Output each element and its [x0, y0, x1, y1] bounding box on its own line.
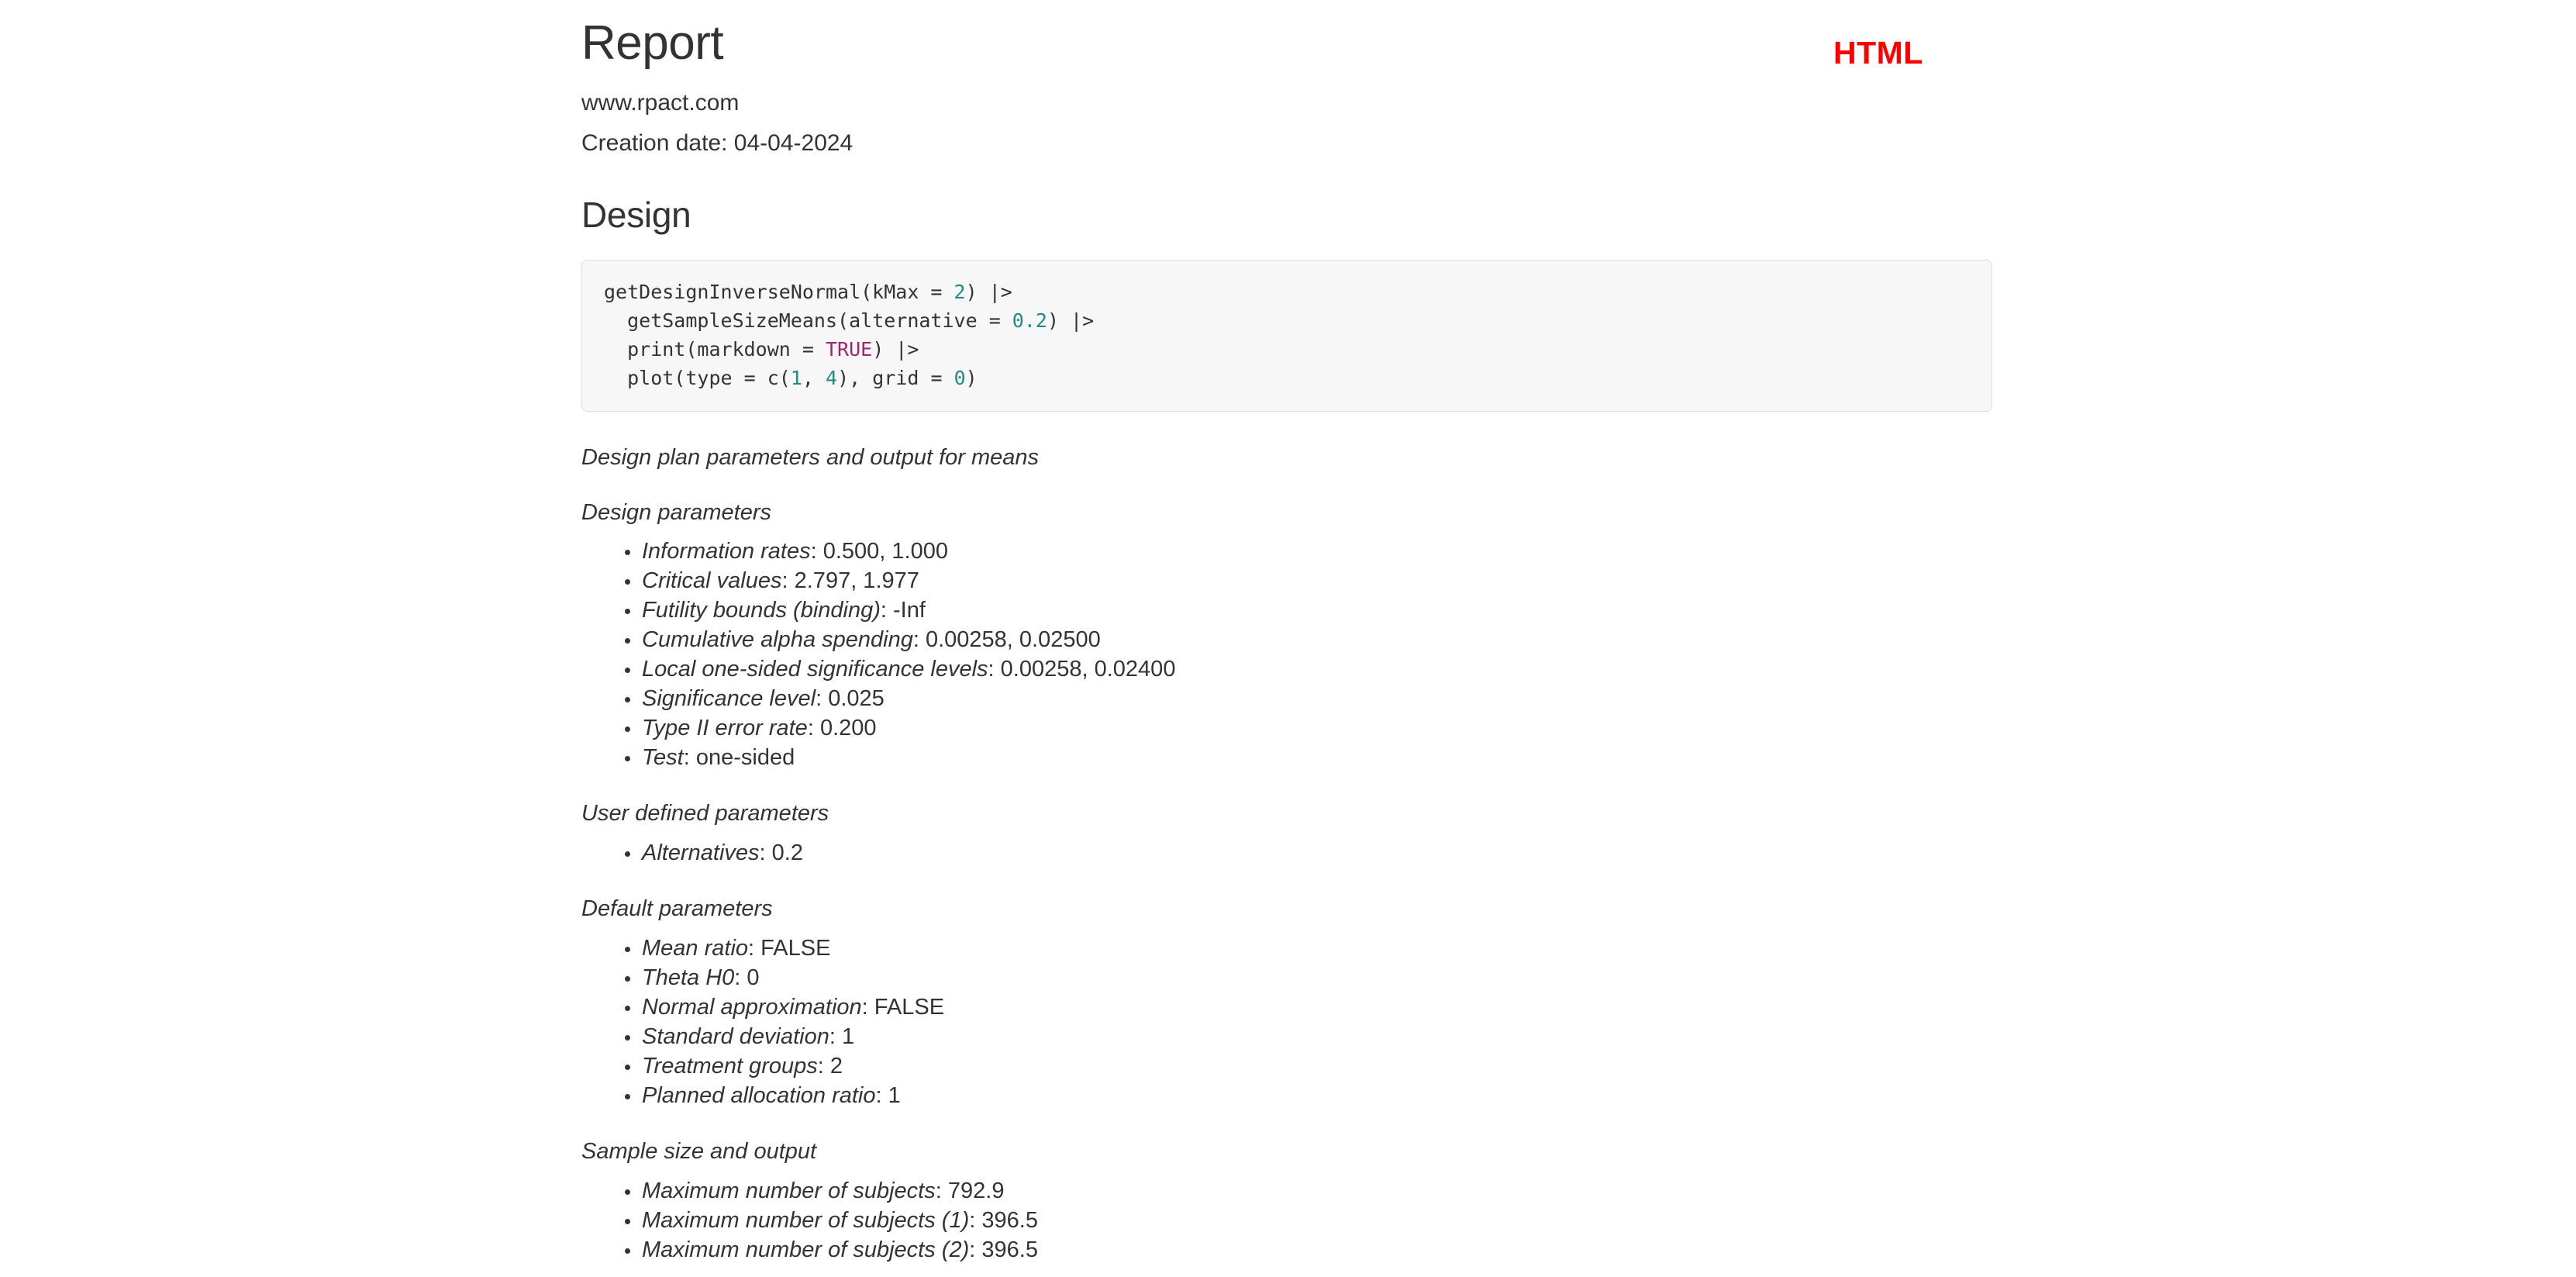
- parameter-label: Information rates: [642, 539, 811, 564]
- code-token-plain: ), grid =: [837, 367, 954, 389]
- parameter-value: 0.00258, 0.02400: [1001, 657, 1176, 682]
- parameter-label: Critical values: [642, 568, 782, 593]
- parameter-label: Alternatives: [642, 840, 760, 865]
- parameter-item: Futility bounds (binding): -Inf: [581, 595, 1995, 625]
- parameter-separator: :: [862, 995, 874, 1020]
- code-token-number: 2: [954, 281, 966, 303]
- parameter-label: Cumulative alpha spending: [642, 627, 913, 652]
- code-token-boolean: TRUE: [826, 338, 872, 361]
- parameter-value: 0.500, 1.000: [823, 539, 948, 564]
- parameter-label: Maximum number of subjects (1): [642, 1208, 969, 1233]
- parameter-separator: :: [988, 657, 1001, 682]
- page-title: Report: [581, 0, 1995, 70]
- parameter-item: Critical values: 2.797, 1.977: [581, 566, 1995, 595]
- creation-date-line: Creation date: 04-04-2024: [581, 117, 1995, 157]
- parameter-value: 1: [842, 1024, 854, 1049]
- code-token-plain: getSampleSizeMeans(alternative =: [604, 309, 1012, 332]
- code-token-plain: getDesignInverseNormal(kMax =: [604, 281, 954, 303]
- parameter-separator: :: [913, 627, 926, 652]
- parameter-separator: :: [969, 1237, 981, 1262]
- parameter-item: Normal approximation: FALSE: [581, 992, 1995, 1022]
- parameter-separator: :: [782, 568, 795, 593]
- parameter-label: Normal approximation: [642, 995, 862, 1020]
- report-page: HTML Report www.rpact.com Creation date:…: [0, 0, 2576, 1277]
- parameter-value: 396.5: [981, 1208, 1038, 1233]
- parameter-list: Information rates: 0.500, 1.000Critical …: [581, 526, 1995, 772]
- code-token-number: 0.2: [1012, 309, 1047, 332]
- parameter-separator: :: [881, 598, 893, 623]
- parameter-label: Treatment groups: [642, 1054, 818, 1079]
- parameter-separator: :: [969, 1208, 981, 1233]
- parameter-item: Planned allocation ratio: 1: [581, 1081, 1995, 1110]
- parameter-group-heading: Design parameters: [581, 471, 1995, 526]
- parameter-list: Alternatives: 0.2: [581, 827, 1995, 868]
- code-token-plain: ) |>: [966, 281, 1012, 303]
- parameter-label: Significance level: [642, 686, 816, 711]
- parameter-label: Type II error rate: [642, 716, 808, 740]
- parameter-label: Local one-sided significance levels: [642, 657, 988, 682]
- parameter-item: Information rates: 0.500, 1.000: [581, 537, 1995, 566]
- code-token-plain: plot(type = c(: [604, 367, 791, 389]
- section-heading-design: Design: [581, 157, 1995, 235]
- code-token-number: 0: [954, 367, 966, 389]
- parameter-item: Type II error rate: 0.200: [581, 713, 1995, 743]
- parameter-separator: :: [734, 965, 747, 990]
- parameter-list: Mean ratio: FALSETheta H0: 0Normal appro…: [581, 923, 1995, 1110]
- parameter-item: Maximum number of subjects (2): 396.5: [581, 1235, 1995, 1265]
- parameter-value: FALSE: [874, 995, 944, 1020]
- parameter-item: Maximum number of subjects: 792.9: [581, 1176, 1995, 1206]
- parameter-value: -Inf: [893, 598, 926, 623]
- code-token-plain: print(markdown =: [604, 338, 826, 361]
- parameter-separator: :: [808, 716, 820, 740]
- parameter-value: 0.025: [828, 686, 885, 711]
- parameter-value: one-sided: [696, 745, 795, 770]
- parameter-item: Local one-sided significance levels: 0.0…: [581, 654, 1995, 684]
- code-token-number: 4: [826, 367, 837, 389]
- parameter-separator: :: [829, 1024, 842, 1049]
- parameter-separator: :: [684, 745, 696, 770]
- code-block-design: getDesignInverseNormal(kMax = 2) |> getS…: [581, 260, 1992, 412]
- website-line: www.rpact.com: [581, 70, 1995, 117]
- parameter-item: Maximum number of subjects (1): 396.5: [581, 1206, 1995, 1235]
- parameter-label: Mean ratio: [642, 936, 748, 961]
- parameter-value: 2: [830, 1054, 843, 1079]
- parameter-item: Cumulative alpha spending: 0.00258, 0.02…: [581, 625, 1995, 654]
- parameter-item: Test: one-sided: [581, 743, 1995, 772]
- parameter-label: Maximum number of subjects: [642, 1179, 936, 1203]
- parameter-separator: :: [816, 686, 828, 711]
- parameter-item: Theta H0: 0: [581, 963, 1995, 992]
- code-token-plain: ): [966, 367, 978, 389]
- code-token-plain: ) |>: [872, 338, 919, 361]
- parameter-value: FALSE: [760, 936, 830, 961]
- output-caption: Design plan parameters and output for me…: [581, 412, 1995, 471]
- parameter-item: Mean ratio: FALSE: [581, 934, 1995, 963]
- parameter-value: 396.5: [981, 1237, 1038, 1262]
- parameter-item: Treatment groups: 2: [581, 1051, 1995, 1081]
- parameter-separator: :: [811, 539, 823, 564]
- parameter-separator: :: [875, 1083, 888, 1108]
- parameter-item: Standard deviation: 1: [581, 1022, 1995, 1051]
- parameter-value: 1: [888, 1083, 901, 1108]
- parameter-label: Maximum number of subjects (2): [642, 1237, 969, 1262]
- code-token-plain: ,: [802, 367, 826, 389]
- parameter-label: Standard deviation: [642, 1024, 829, 1049]
- parameter-label: Test: [642, 745, 684, 770]
- parameter-value: 2.797, 1.977: [795, 568, 919, 593]
- parameter-value: 0: [747, 965, 759, 990]
- parameter-separator: :: [760, 840, 772, 865]
- parameter-label: Planned allocation ratio: [642, 1083, 875, 1108]
- parameter-label: Futility bounds (binding): [642, 598, 881, 623]
- parameter-item: Alternatives: 0.2: [581, 838, 1995, 868]
- parameter-group-heading: Sample size and output: [581, 1110, 1995, 1165]
- parameter-separator: :: [936, 1179, 948, 1203]
- parameter-list: Maximum number of subjects: 792.9Maximum…: [581, 1165, 1995, 1265]
- parameter-groups: Design parametersInformation rates: 0.50…: [581, 471, 1995, 1265]
- parameter-value: 792.9: [948, 1179, 1005, 1203]
- parameter-separator: :: [818, 1054, 830, 1079]
- code-block-content: getDesignInverseNormal(kMax = 2) |> getS…: [604, 278, 1970, 392]
- parameter-item: Significance level: 0.025: [581, 684, 1995, 713]
- parameter-separator: :: [748, 936, 760, 961]
- parameter-group-heading: Default parameters: [581, 868, 1995, 923]
- parameter-value: 0.00258, 0.02500: [926, 627, 1101, 652]
- parameter-group-heading: User defined parameters: [581, 772, 1995, 827]
- parameter-value: 0.200: [820, 716, 877, 740]
- code-token-number: 1: [791, 367, 802, 389]
- parameter-label: Theta H0: [642, 965, 734, 990]
- parameter-value: 0.2: [772, 840, 803, 865]
- report-content-column: Report www.rpact.com Creation date: 04-0…: [581, 0, 1995, 1265]
- code-token-plain: ) |>: [1047, 309, 1094, 332]
